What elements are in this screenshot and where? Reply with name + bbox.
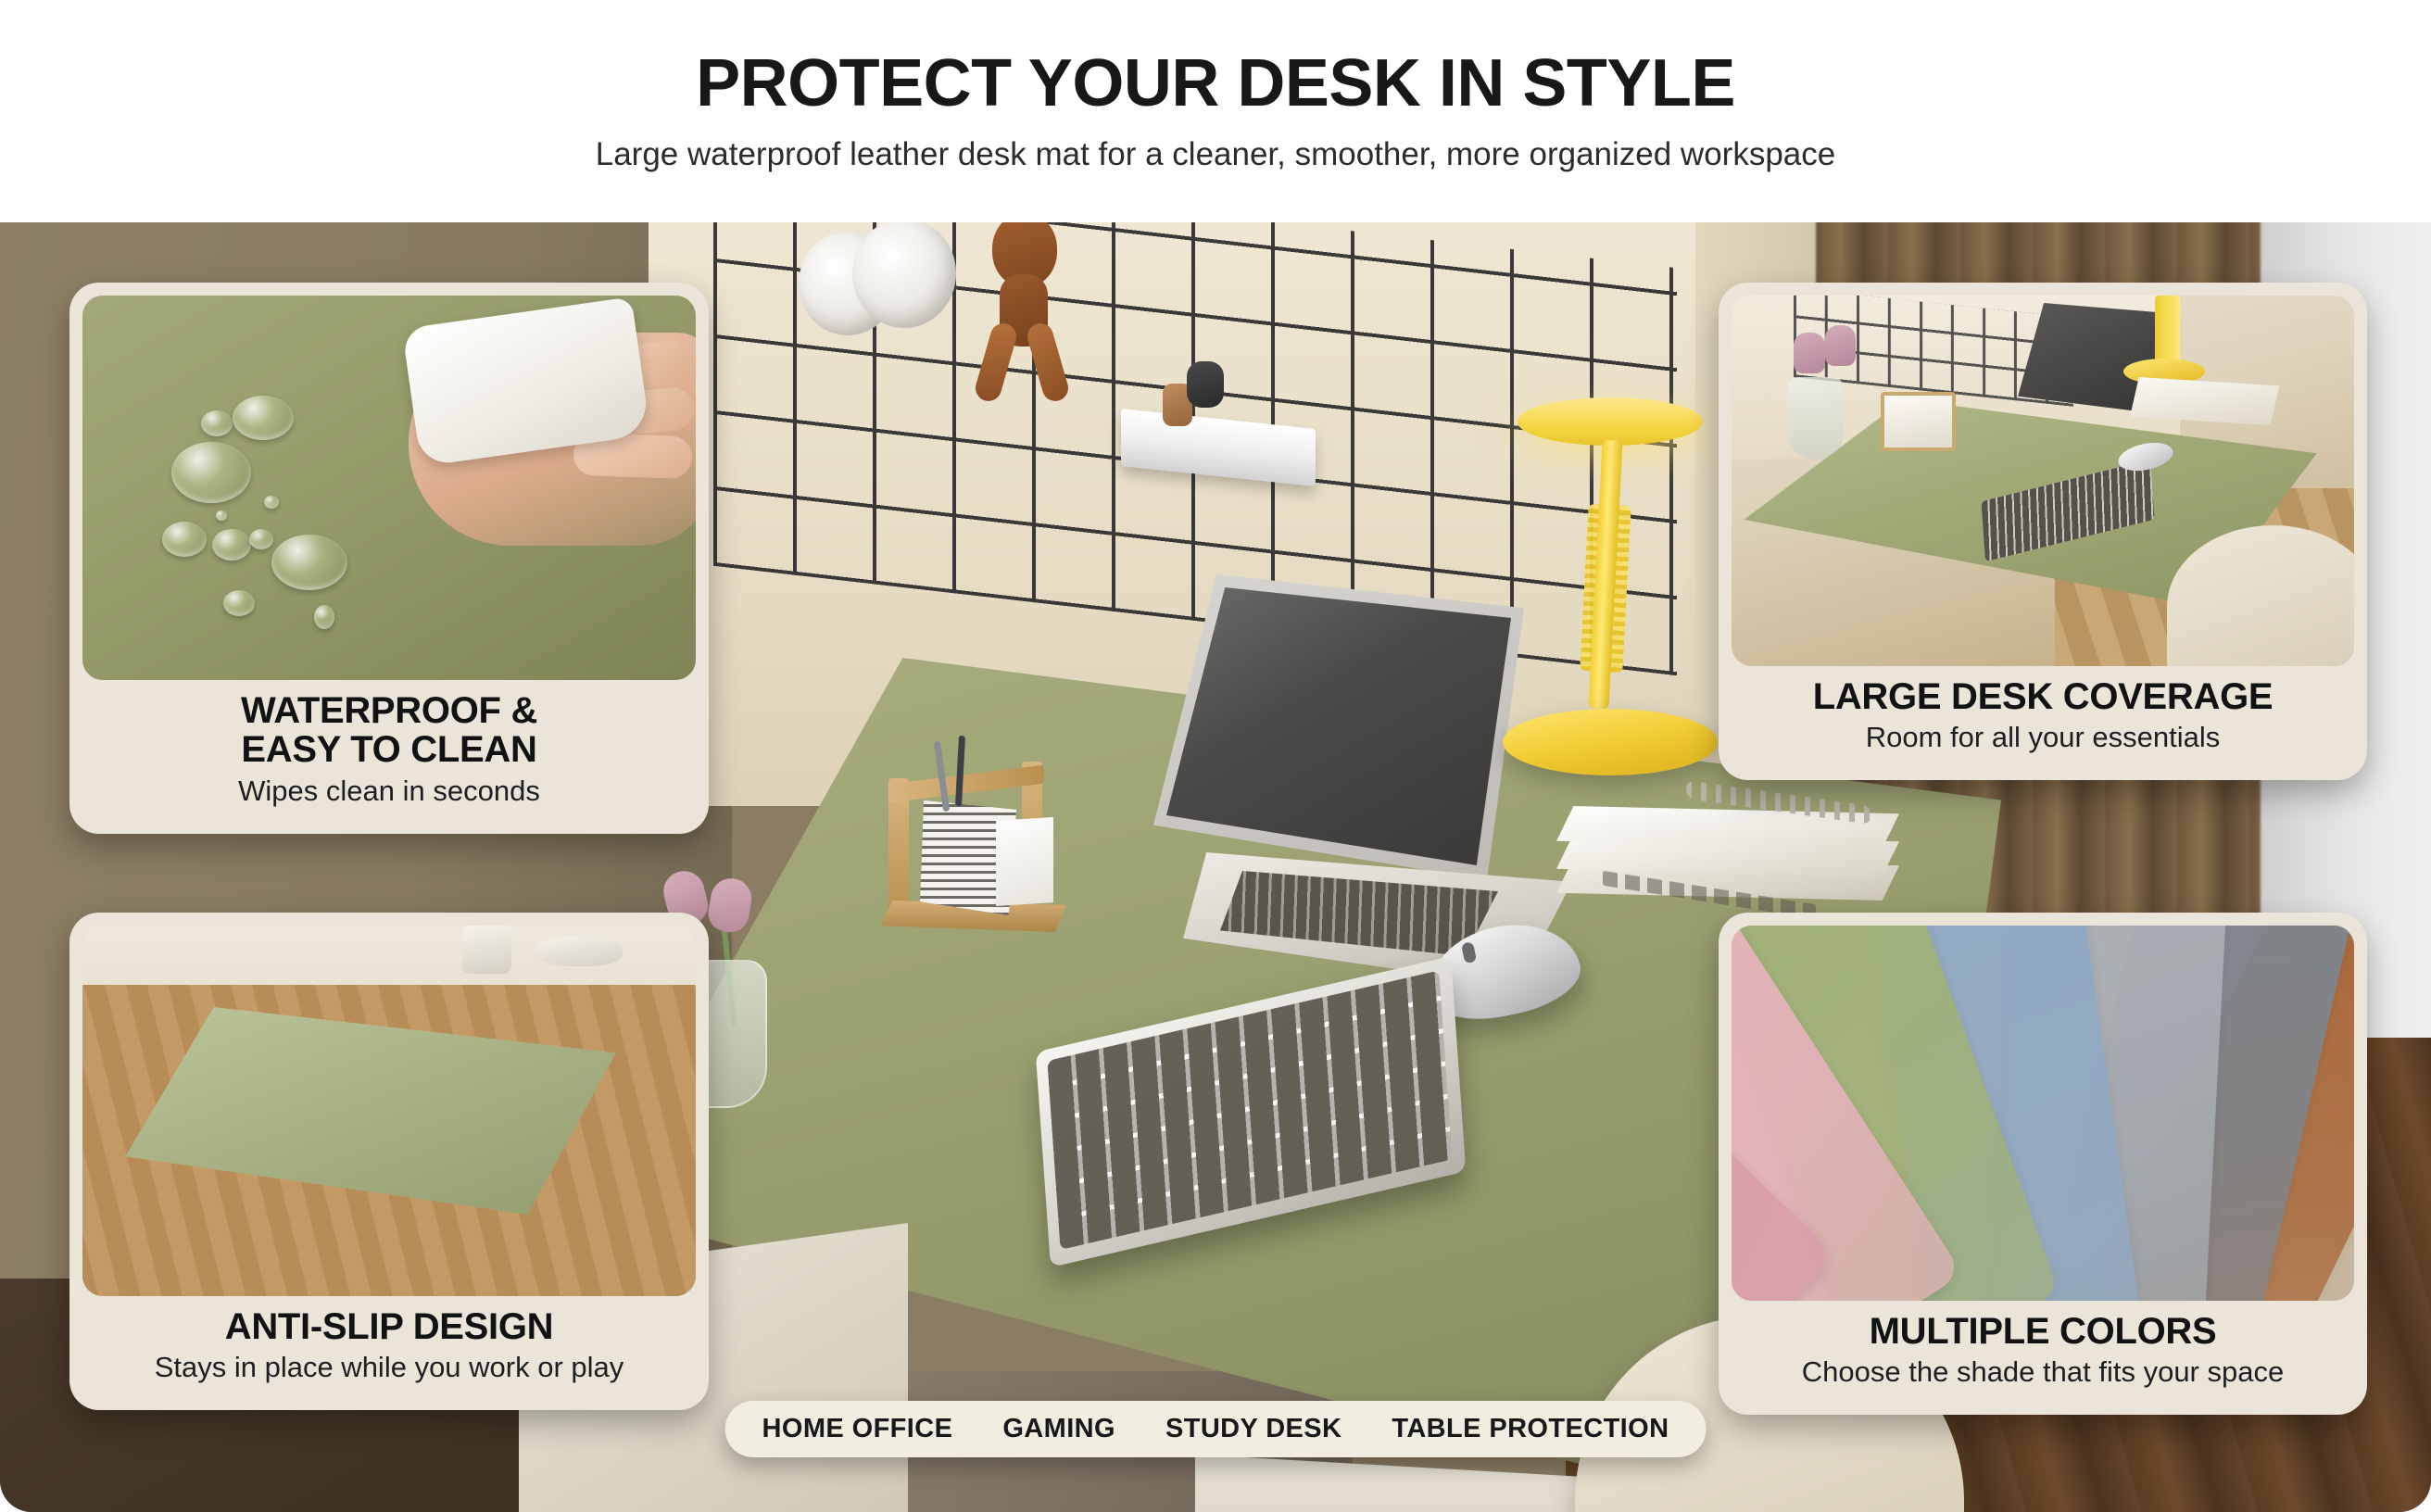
vase-small [1787, 377, 1843, 459]
tag-study-desk[interactable]: STUDY DESK [1165, 1414, 1341, 1444]
headphones-icon [799, 222, 956, 339]
shelf-figurine [1163, 361, 1224, 426]
page-title: PROTECT YOUR DESK IN STYLE [696, 50, 1735, 117]
feature-card-colors[interactable]: MULTIPLE COLORS Choose the shade that fi… [1719, 913, 2367, 1415]
tag-home-office[interactable]: HOME OFFICE [762, 1414, 953, 1444]
infographic-canvas: PROTECT YOUR DESK IN STYLE Large waterpr… [0, 0, 2431, 1512]
tag-gaming[interactable]: GAMING [1002, 1414, 1115, 1444]
card-photo-antislip [82, 926, 696, 1296]
card-subtitle-antislip: Stays in place while you work or play [92, 1352, 686, 1384]
card-photo-colors [1732, 926, 2354, 1301]
use-case-tag-bar: HOME OFFICE GAMING STUDY DESK TABLE PROT… [725, 1401, 1707, 1457]
card-title-waterproof: WATERPROOF & EASY TO CLEAN [92, 691, 686, 770]
card-caption-coverage: LARGE DESK COVERAGE Room for all your es… [1732, 666, 2354, 767]
pen-holder [885, 741, 1079, 954]
feature-card-antislip[interactable]: ANTI-SLIP DESIGN Stays in place while yo… [69, 913, 709, 1410]
card-subtitle-waterproof: Wipes clean in seconds [92, 775, 686, 808]
card-caption-waterproof: WATERPROOF & EASY TO CLEAN Wipes clean i… [82, 680, 696, 821]
card-title-antislip: ANTI-SLIP DESIGN [92, 1307, 686, 1346]
card-title-colors: MULTIPLE COLORS [1741, 1312, 2345, 1351]
card-title-coverage: LARGE DESK COVERAGE [1741, 677, 2345, 716]
tag-table-protection[interactable]: TABLE PROTECTION [1392, 1414, 1669, 1444]
flip-clock [1881, 392, 1956, 451]
card-caption-colors: MULTIPLE COLORS Choose the shade that fi… [1732, 1301, 2354, 1402]
card-photo-waterproof [82, 296, 696, 680]
card-photo-coverage [1732, 296, 2354, 666]
card-subtitle-coverage: Room for all your essentials [1741, 722, 2345, 754]
header-band: PROTECT YOUR DESK IN STYLE Large waterpr… [0, 0, 2431, 222]
feature-card-coverage[interactable]: LARGE DESK COVERAGE Room for all your es… [1719, 283, 2367, 780]
card-subtitle-colors: Choose the shade that fits your space [1741, 1356, 2345, 1389]
card-caption-antislip: ANTI-SLIP DESIGN Stays in place while yo… [82, 1296, 696, 1397]
page-subtitle: Large waterproof leather desk mat for a … [596, 137, 1835, 173]
desk-lamp-yellow [1445, 431, 1751, 820]
wooden-monkey-figure [977, 222, 1066, 426]
feature-card-waterproof[interactable]: WATERPROOF & EASY TO CLEAN Wipes clean i… [69, 283, 709, 834]
